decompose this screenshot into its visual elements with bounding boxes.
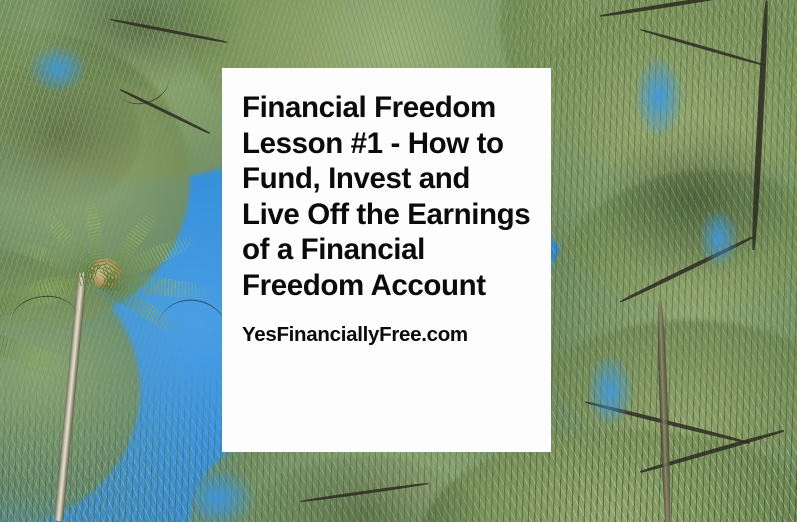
- page-title: Financial Freedom Lesson #1 - How to Fun…: [242, 90, 535, 303]
- title-card-image: Financial Freedom Lesson #1 - How to Fun…: [0, 0, 797, 522]
- title-card-panel: Financial Freedom Lesson #1 - How to Fun…: [222, 68, 551, 452]
- website-url-label: YesFinanciallyFree.com: [242, 323, 535, 348]
